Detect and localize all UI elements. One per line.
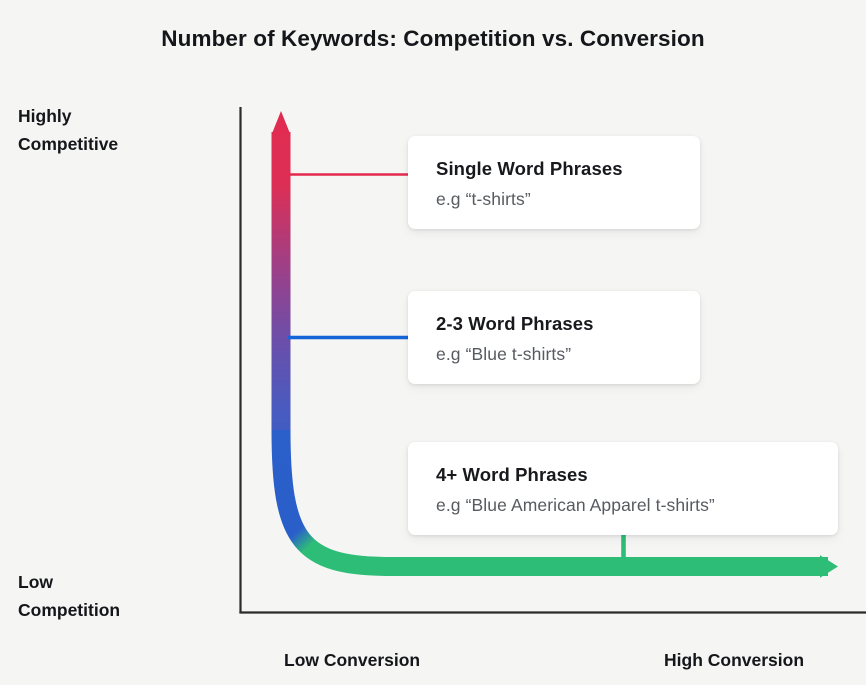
page-title: Number of Keywords: Competition vs. Conv… xyxy=(0,26,866,52)
callout-card-single-word[interactable]: Single Word Phrases e.g “t-shirts” xyxy=(408,136,700,229)
x-axis-label-low: Low Conversion xyxy=(284,646,420,674)
callout-example-two-three-word: e.g “Blue t-shirts” xyxy=(436,344,674,365)
y-axis-label-high: Highly Competitive xyxy=(18,102,118,158)
callout-card-two-three-word[interactable]: 2-3 Word Phrases e.g “Blue t-shirts” xyxy=(408,291,700,384)
y-axis-label-low-line1: Low xyxy=(18,568,120,596)
y-axis-label-low-line2: Competition xyxy=(18,596,120,624)
y-axis-label-high-line2: Competitive xyxy=(18,130,118,158)
callout-example-single-word: e.g “t-shirts” xyxy=(436,189,674,210)
callout-title-two-three-word: 2-3 Word Phrases xyxy=(436,313,674,335)
callout-title-four-plus-word: 4+ Word Phrases xyxy=(436,464,812,486)
y-axis-label-high-line1: Highly xyxy=(18,102,118,130)
callout-title-single-word: Single Word Phrases xyxy=(436,158,674,180)
x-axis-label-high: High Conversion xyxy=(664,646,804,674)
callout-example-four-plus-word: e.g “Blue American Apparel t-shirts” xyxy=(436,495,812,516)
y-axis-label-low: Low Competition xyxy=(18,568,120,624)
callout-card-four-plus-word[interactable]: 4+ Word Phrases e.g “Blue American Appar… xyxy=(408,442,838,535)
chart-canvas: Number of Keywords: Competition vs. Conv… xyxy=(0,0,866,685)
